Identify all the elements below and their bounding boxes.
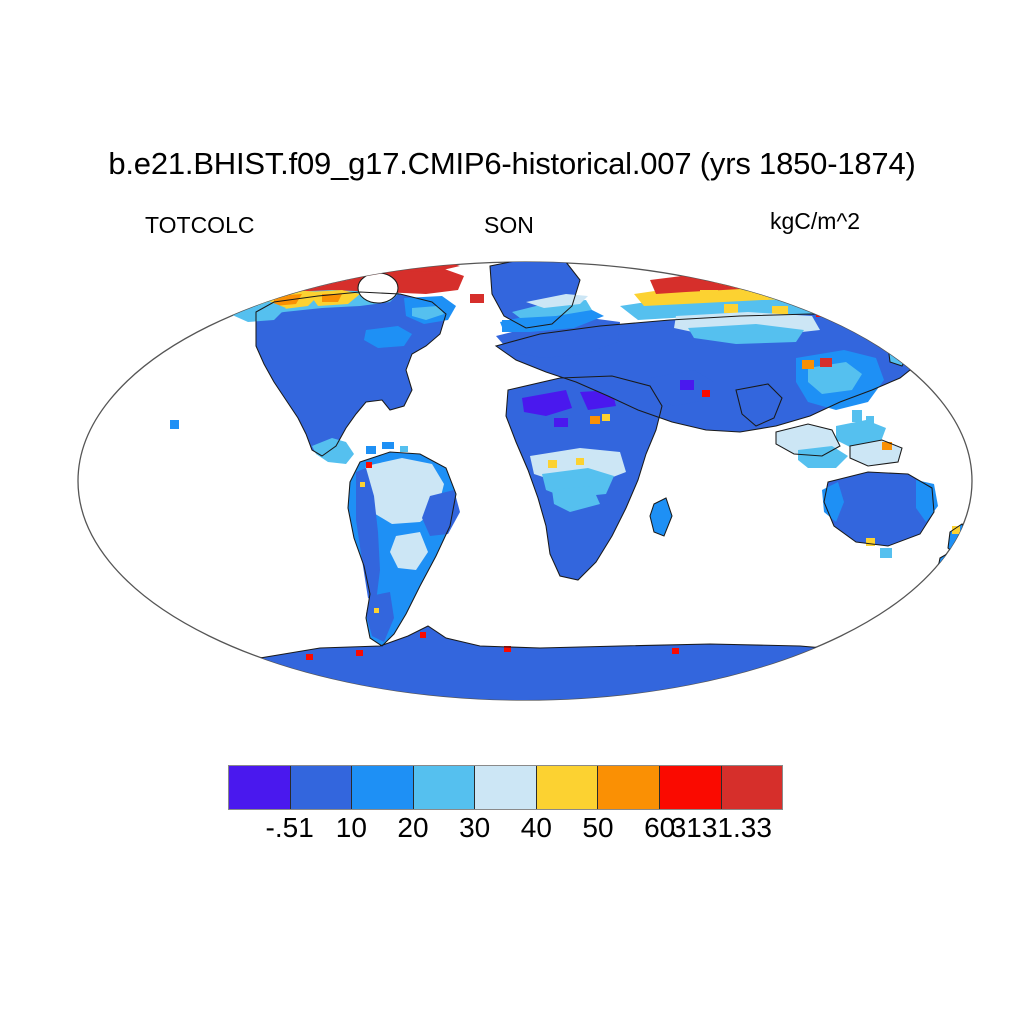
units-label: kgC/m^2 (770, 208, 860, 235)
colorbar-cell-sky-blue (414, 766, 476, 809)
colorbar-cell-golden-yellow (537, 766, 599, 809)
variable-label: TOTCOLC (145, 212, 254, 239)
colorbar-cell-azure-blue (352, 766, 414, 809)
colorbar-cell-medium-blue (291, 766, 353, 809)
colorbar-tick: 30 (459, 812, 490, 844)
colorbar-tick-labels: -.511020304050603131.33 (0, 812, 1024, 846)
colorbar-cell-red (660, 766, 722, 809)
colorbar-tick: 3131.33 (671, 812, 772, 844)
colorbar-cell-pale-blue (475, 766, 537, 809)
colorbar-cell-brick-red (722, 766, 783, 809)
season-label: SON (484, 212, 534, 239)
colorbar-cell-deep-violet-blue (229, 766, 291, 809)
colorbar-tick: 20 (397, 812, 428, 844)
colorbar-tick: -.51 (266, 812, 314, 844)
colorbar-cell-orange (598, 766, 660, 809)
colorbar (228, 765, 783, 810)
colorbar-tick: 50 (582, 812, 613, 844)
colorbar-tick: 40 (521, 812, 552, 844)
figure-title: b.e21.BHIST.f09_g17.CMIP6-historical.007… (0, 146, 1024, 182)
world-map (60, 250, 990, 730)
figure-root: b.e21.BHIST.f09_g17.CMIP6-historical.007… (0, 0, 1024, 1024)
colorbar-tick: 10 (336, 812, 367, 844)
map-plot-area (60, 250, 990, 730)
